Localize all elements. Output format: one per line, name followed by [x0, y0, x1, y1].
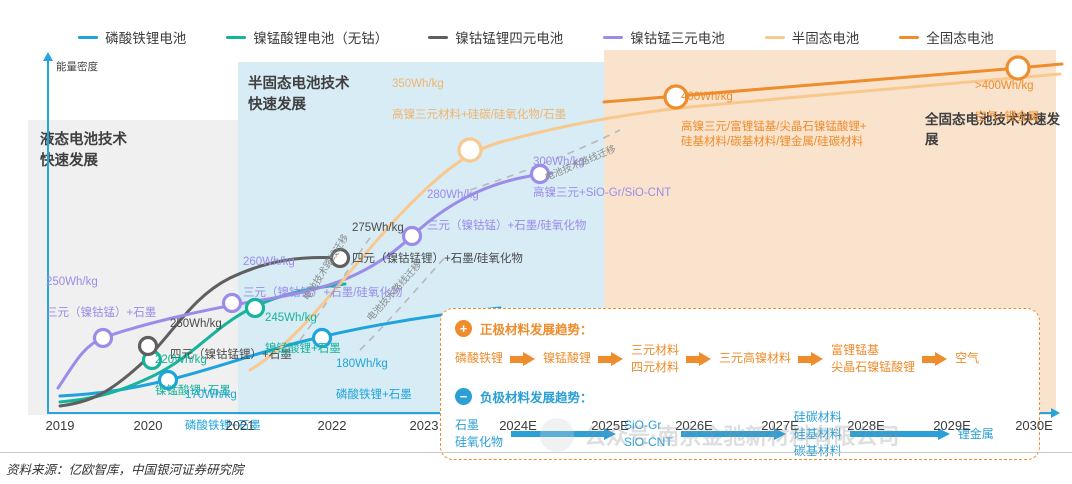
cathode-step-2: 镍锰酸锂 — [543, 350, 591, 367]
cathode-step-5: 富锂锰基 尖晶石镍锰酸锂 — [831, 342, 915, 376]
x-tick-2024E: 2024E — [499, 418, 537, 433]
legend-swatch-lnmo — [226, 36, 246, 39]
point-label-ncm-250: 250Wh/kg 三元（镍钴锰）+石墨 — [46, 260, 156, 321]
x-tick-2021: 2021 — [226, 418, 255, 433]
marker-ncm-250 — [95, 330, 112, 347]
legend-swatch-lfp — [78, 36, 98, 39]
footer-divider — [0, 452, 1072, 453]
legend-item-all-solid: 全固态电池 — [899, 27, 994, 47]
source-note: 资料来源：亿欧智库，中国银河证券研究院 — [6, 459, 244, 478]
x-tick-2022: 2022 — [318, 418, 347, 433]
legend-item-ncm: 镍钴锰三元电池 — [603, 27, 725, 47]
legend-label-ncm: 镍钴锰三元电池 — [630, 27, 725, 47]
legend-item-semi-solid: 半固态电池 — [765, 27, 860, 47]
anode-trend-header: − 负极材料发展趋势： — [455, 387, 593, 406]
legend-swatch-all-solid — [899, 36, 919, 39]
watermark-text: 公众号·南京金驰新材料有限公司 — [584, 419, 899, 451]
x-tick-2019: 2019 — [46, 418, 75, 433]
cathode-trend-header: + 正极材料发展趋势： — [455, 319, 593, 338]
legend-label-ncml: 镍钴锰锂四元电池 — [455, 27, 563, 47]
cathode-step-3: 三元材料 四元材料 — [631, 342, 679, 376]
cathode-chain: 磷酸铁锂 镍锰酸锂 三元材料 四元材料 三元高镍材料 富锂锰基 尖晶石镍锰酸锂 … — [455, 342, 1030, 376]
legend-swatch-ncm — [603, 36, 623, 39]
legend-label-lfp: 磷酸铁锂电池 — [105, 27, 186, 47]
arrow-right-icon — [686, 352, 712, 366]
x-tick-2029E: 2029E — [933, 418, 971, 433]
x-tick-2020: 2020 — [134, 418, 163, 433]
minus-icon: − — [455, 388, 472, 405]
point-label-solid-400plus: >400Wh/kg 空气+锂金属 — [975, 64, 1039, 125]
legend-item-lnmo: 镍锰酸锂电池（无钴） — [226, 27, 388, 47]
legend-swatch-ncml — [428, 36, 448, 39]
chart-plot-area: 液态电池技术 快速发展 半固态电池技术 快速发展 全固态电池技术快速发展 能量密… — [0, 50, 1072, 445]
watermark: 公众号·南京金驰新材料有限公司 — [540, 418, 899, 452]
legend-label-semi-solid: 半固态电池 — [792, 27, 860, 47]
marker-semi-350 — [459, 139, 481, 161]
anode-trend-title: 负极材料发展趋势： — [480, 387, 593, 406]
legend-label-lnmo: 镍锰酸锂电池（无钴） — [253, 27, 388, 47]
cathode-step-1: 磷酸铁锂 — [455, 350, 503, 367]
marker-ncml-250 — [140, 338, 157, 355]
arrow-right-icon — [598, 352, 624, 366]
x-tick-2023: 2023 — [410, 418, 439, 433]
cathode-step-6: 空气 — [955, 350, 979, 367]
plus-icon: + — [455, 320, 472, 337]
point-label-lnmo-245: 245Wh/kg 镍锰酸锂+石墨 — [265, 296, 341, 357]
legend-label-all-solid: 全固态电池 — [926, 27, 994, 47]
point-label-solid-400: 400Wh/kg 高镍三元/富锂锰基/尖晶石镍锰酸锂+ 硅基材料/碳基材料/锂金… — [681, 75, 867, 150]
watermark-logo-icon — [540, 418, 574, 452]
arrow-right-icon — [798, 352, 824, 366]
cathode-step-4: 三元高镍材料 — [719, 350, 791, 367]
arrow-right-icon — [510, 352, 536, 366]
legend-item-lfp: 磷酸铁锂电池 — [78, 27, 186, 47]
legend-swatch-semi-solid — [765, 36, 785, 39]
cathode-trend-title: 正极材料发展趋势： — [480, 319, 593, 338]
legend-item-ncml: 镍钴锰锂四元电池 — [428, 27, 563, 47]
arrow-right-icon — [922, 352, 948, 366]
point-label-semi-350: 350Wh/kg 高镍三元材料+硅碳/硅氧化物/石墨 — [392, 62, 566, 123]
point-label-lfp-180: 180Wh/kg 磷酸铁锂+石墨 — [336, 342, 412, 403]
x-axis-tick-labels: 2019 2020 2021 2022 2023 2024E 2025E 202… — [0, 418, 1072, 438]
chart-legend: 磷酸铁锂电池 镍锰酸锂电池（无钴） 镍钴锰锂四元电池 镍钴锰三元电池 半固态电池… — [0, 26, 1072, 48]
x-tick-2030E: 2030E — [1015, 418, 1053, 433]
